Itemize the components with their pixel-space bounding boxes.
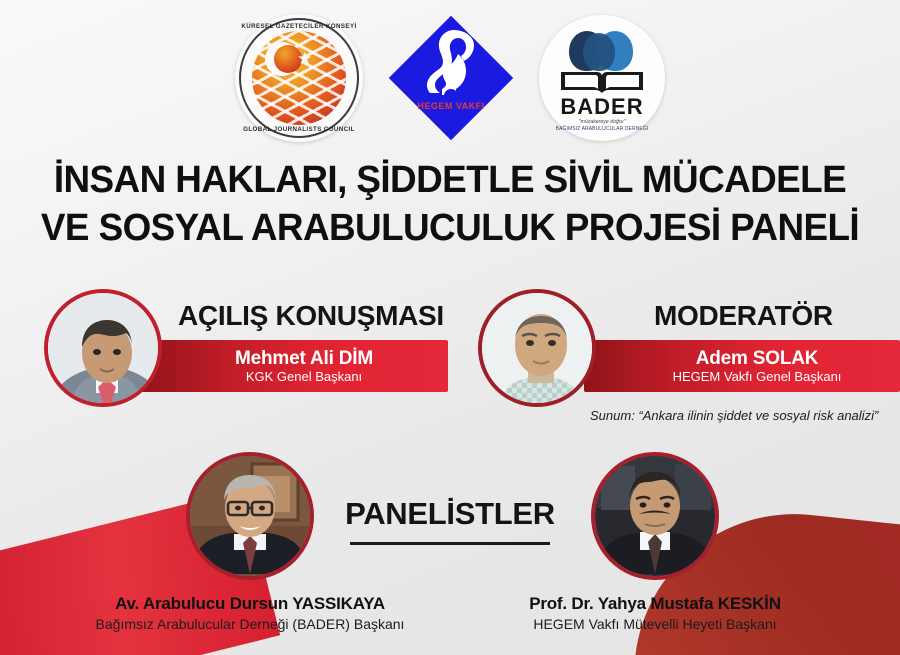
- moderator-photo: [478, 289, 596, 407]
- moderator-title: HEGEM Vakfı Genel Başkanı: [673, 369, 842, 385]
- panelist-2: Prof. Dr. Yahya Mustafa KESKİN HEGEM Vak…: [455, 452, 855, 632]
- panelist-2-title: HEGEM Vakfı Mütevelli Heyeti Başkanı: [455, 616, 855, 632]
- moderator-note: Sunum: “Ankara ilinin şiddet ve sosyal r…: [590, 408, 878, 423]
- moderator-role-label: MODERATÖR: [654, 300, 833, 332]
- panelist-1-photo: [186, 452, 314, 580]
- moderator-block: MODERATÖR Adem SOLAK HEGEM Vakfı Genel B…: [450, 0, 900, 160]
- panelist-1-name: Av. Arabulucu Dursun YASSIKAYA: [50, 594, 450, 614]
- title-line-2: VE SOSYAL ARABULUCULUK PROJESİ PANELİ: [14, 204, 887, 252]
- opening-speaker-block: AÇILIŞ KONUŞMASI Mehmet Ali DİM KGK Gene…: [0, 0, 450, 150]
- opening-role-label: AÇILIŞ KONUŞMASI: [178, 300, 444, 332]
- moderator-name: Adem SOLAK: [696, 348, 819, 369]
- panelist-2-photo: [591, 452, 719, 580]
- panelist-1: Av. Arabulucu Dursun YASSIKAYA Bağımsız …: [50, 452, 450, 632]
- title-line-1: İNSAN HAKLARI, ŞİDDETLE SİVİL MÜCADELE: [14, 156, 887, 204]
- opening-speaker-title: KGK Genel Başkanı: [246, 369, 362, 385]
- opening-speaker-name: Mehmet Ali DİM: [235, 348, 373, 369]
- opening-speaker-photo: [44, 289, 162, 407]
- moderator-banner: Adem SOLAK HEGEM Vakfı Genel Başkanı: [584, 340, 900, 392]
- panelist-1-title: Bağımsız Arabulucular Derneği (BADER) Ba…: [50, 616, 450, 632]
- opening-speaker-banner: Mehmet Ali DİM KGK Genel Başkanı: [138, 340, 448, 392]
- panelist-2-name: Prof. Dr. Yahya Mustafa KESKİN: [455, 594, 855, 614]
- event-poster: ★ KÜRESEL GAZETECİLER KONSEYİ GLOBAL JOU…: [0, 0, 900, 655]
- poster-title: İNSAN HAKLARI, ŞİDDETLE SİVİL MÜCADELE V…: [0, 156, 900, 252]
